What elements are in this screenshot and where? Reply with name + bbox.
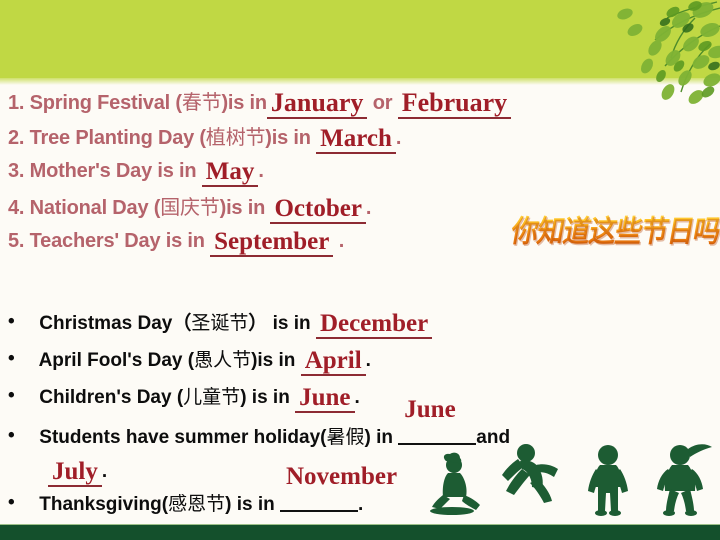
banner-fade-edge xyxy=(0,78,720,85)
item-chinese: 儿童节 xyxy=(183,386,240,408)
answer-january[interactable]: January xyxy=(267,88,367,119)
item-stem: Children's Day ( xyxy=(39,387,183,408)
conjunction-or: or xyxy=(373,92,393,115)
item-stem-2: )is in xyxy=(221,92,266,115)
item-stem: National Day ( xyxy=(30,197,161,220)
answer-blank-line[interactable] xyxy=(398,421,476,445)
list-item: • Children's Day (儿童节) is in June. xyxy=(8,382,720,419)
item-stem-2: ) in xyxy=(364,427,393,448)
bulleted-answer-list: • Christmas Day（圣诞节） is in December • Ap… xyxy=(8,308,720,523)
list-item: • Students have summer holiday(暑假) in Ju… xyxy=(8,419,720,456)
item-stem-2: )is in xyxy=(220,197,265,220)
item-stem: Mother's Day is in xyxy=(30,160,197,183)
item-chinese: 感恩节 xyxy=(168,493,225,515)
list-item: • Thanksgiving(感恩节) is in November. xyxy=(8,486,720,523)
item-stem: Spring Festival ( xyxy=(30,92,182,115)
item-stem-2: ） is in xyxy=(248,313,310,334)
answer-february[interactable]: February xyxy=(398,88,511,119)
item-stem-2: )is in xyxy=(251,350,295,371)
answer-december[interactable]: December xyxy=(316,310,432,339)
answer-may[interactable]: May xyxy=(202,158,259,187)
answer-blank-wrap: November xyxy=(280,486,358,516)
item-stem: Tree Planting Day ( xyxy=(30,127,206,150)
list-item: 3. Mother's Day is in May. xyxy=(8,156,720,191)
answer-november[interactable]: November xyxy=(286,463,397,491)
bullet-dot: • xyxy=(8,492,34,514)
list-item: 1. Spring Festival (春节)is inJanuary or F… xyxy=(8,86,720,121)
item-tail: and xyxy=(476,427,510,448)
item-stem: Thanksgiving( xyxy=(39,494,168,515)
item-chinese: 圣诞节 xyxy=(191,312,248,334)
bullet-dot: • xyxy=(8,425,34,447)
list-item: • Christmas Day（圣诞节） is in December xyxy=(8,308,720,345)
item-stem: April Fool's Day ( xyxy=(39,350,194,371)
item-number: 1. xyxy=(8,92,24,115)
item-tail: . xyxy=(355,387,360,408)
bullet-dot: • xyxy=(8,385,34,407)
item-stem: Christmas Day（ xyxy=(39,313,191,334)
item-chinese: 植树节 xyxy=(206,125,265,149)
bullet-dot: • xyxy=(8,311,34,333)
answer-june-summer[interactable]: June xyxy=(404,396,455,424)
item-tail: . xyxy=(339,230,344,252)
answer-march[interactable]: March xyxy=(316,125,396,154)
item-tail: . xyxy=(258,160,263,182)
item-chinese: 国庆节 xyxy=(160,195,219,219)
item-stem-2: ) is in xyxy=(240,387,290,408)
answer-blank-wrap: June xyxy=(398,419,476,449)
answer-april[interactable]: April xyxy=(301,347,366,376)
slide-canvas: 1. Spring Festival (春节)is inJanuary or F… xyxy=(0,0,720,540)
answer-july[interactable]: July xyxy=(48,458,102,487)
item-number: 5. xyxy=(8,230,24,253)
wordart-chinese-question: 你知道这些节日吗！ xyxy=(508,207,720,251)
item-chinese: 暑假 xyxy=(326,426,364,448)
item-stem: Teachers' Day is in xyxy=(30,230,205,253)
item-tail: . xyxy=(102,461,107,482)
bottom-green-bar xyxy=(0,525,720,540)
list-item: 2. Tree Planting Day (植树节)is in March. xyxy=(8,121,720,156)
item-tail: . xyxy=(366,350,371,371)
item-stem-2: )is in xyxy=(265,127,310,150)
top-green-banner xyxy=(0,0,720,83)
item-stem-2: ) is in xyxy=(225,494,275,515)
answer-june-children[interactable]: June xyxy=(295,384,354,413)
list-item: • April Fool's Day (愚人节)is in April. xyxy=(8,345,720,382)
item-tail: . xyxy=(358,494,363,515)
item-number: 2. xyxy=(8,127,24,150)
answer-september[interactable]: September xyxy=(210,228,333,257)
item-chinese: 春节 xyxy=(182,90,222,114)
answer-blank-line[interactable] xyxy=(280,488,358,512)
item-chinese: 愚人节 xyxy=(194,349,251,371)
item-number: 4. xyxy=(8,197,24,220)
item-number: 3. xyxy=(8,160,24,183)
item-tail: . xyxy=(366,197,371,219)
answer-october[interactable]: October xyxy=(270,195,365,224)
bullet-dot: • xyxy=(8,348,34,370)
item-tail: . xyxy=(396,127,401,149)
item-stem: Students have summer holiday( xyxy=(39,427,326,448)
